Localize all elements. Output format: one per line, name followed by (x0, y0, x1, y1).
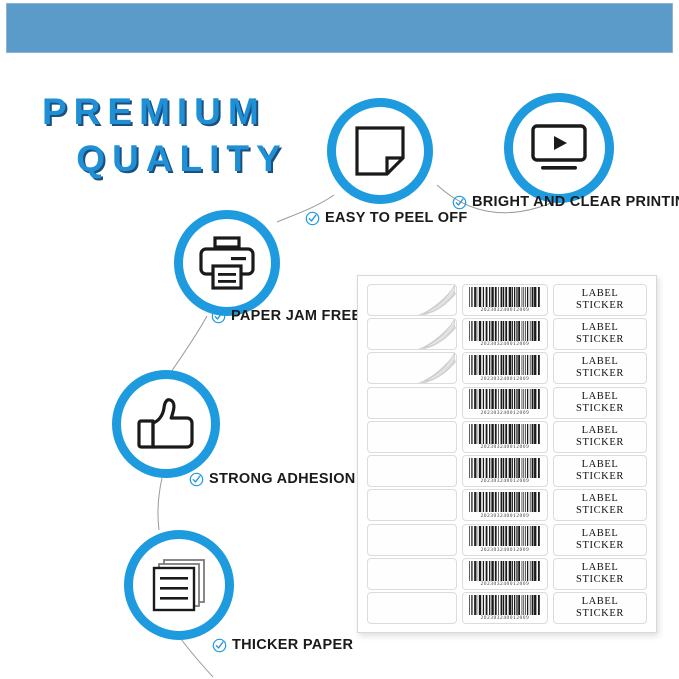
sticker-line-2: STICKER (576, 505, 624, 517)
blank-label-cell (367, 352, 457, 384)
feature-label-text: STRONG ADHESION (209, 471, 356, 487)
sticker-line-1: LABEL (582, 596, 619, 608)
check-circle-icon (189, 472, 204, 487)
blank-label-cell (367, 284, 457, 316)
feature-label-text: EASY TO PEEL OFF (325, 210, 468, 226)
thumbs-up-icon (137, 397, 195, 451)
barcode-label-cell: 202303240012009 (462, 352, 548, 384)
barcode-number: 202303240012009 (481, 581, 530, 587)
blank-label-cell (367, 558, 457, 590)
text-label-cell: LABELSTICKER (553, 387, 647, 419)
text-label-cell: LABELSTICKER (553, 592, 647, 624)
text-label-cell: LABELSTICKER (553, 421, 647, 453)
barcode-number: 202303240012009 (481, 513, 530, 519)
feature-icon-bright-and-clear-printing (504, 93, 614, 203)
check-circle-icon (211, 309, 226, 324)
barcode-number: 202303240012009 (481, 547, 530, 553)
premium-quality-infographic: PREMIUM QUALITY (0, 0, 679, 679)
barcode-label-cell: 202303240012009 (462, 592, 548, 624)
blank-label-cell (367, 524, 457, 556)
text-label-cell: LABELSTICKER (553, 489, 647, 521)
sheet-row: 202303240012009LABELSTICKER (367, 318, 647, 350)
feature-label-paper-jam-free: PAPER JAM FREE (211, 308, 361, 324)
peeling-corner (411, 284, 457, 316)
sheet-rows-container: 202303240012009LABELSTICKER2023032400120… (367, 284, 647, 624)
blank-label-cell (367, 455, 457, 487)
barcode-label-cell: 202303240012009 (462, 558, 548, 590)
label-sticker-sheet: 202303240012009LABELSTICKER2023032400120… (357, 275, 657, 633)
barcode-label-cell: 202303240012009 (462, 421, 548, 453)
monitor-play-icon (529, 123, 589, 173)
sticker-line-2: STICKER (576, 471, 624, 483)
blank-label-cell (367, 592, 457, 624)
sheet-row: 202303240012009LABELSTICKER (367, 284, 647, 316)
barcode-number: 202303240012009 (481, 615, 530, 621)
sheet-row: 202303240012009LABELSTICKER (367, 352, 647, 384)
sticker-line-2: STICKER (576, 334, 624, 346)
sheet-row: 202303240012009LABELSTICKER (367, 387, 647, 419)
sticker-line-1: LABEL (582, 391, 619, 403)
peeling-corner (411, 352, 457, 384)
text-label-cell: LABELSTICKER (553, 558, 647, 590)
check-circle-icon (212, 638, 227, 653)
sticker-line-1: LABEL (582, 493, 619, 505)
feature-label-thicker-paper: THICKER PAPER (212, 637, 353, 653)
top-banner (6, 3, 673, 53)
page-title-line-1: PREMIUM (42, 88, 332, 135)
barcode-number: 202303240012009 (481, 307, 530, 313)
blank-label-cell (367, 421, 457, 453)
text-label-cell: LABELSTICKER (553, 524, 647, 556)
sheet-row: 202303240012009LABELSTICKER (367, 558, 647, 590)
sticker-line-1: LABEL (582, 322, 619, 334)
sheet-row: 202303240012009LABELSTICKER (367, 421, 647, 453)
sticker-line-1: LABEL (582, 528, 619, 540)
sticker-line-2: STICKER (576, 608, 624, 620)
sticker-line-2: STICKER (576, 574, 624, 586)
barcode-number: 202303240012009 (481, 376, 530, 382)
text-label-cell: LABELSTICKER (553, 455, 647, 487)
barcode-label-cell: 202303240012009 (462, 489, 548, 521)
sticker-line-2: STICKER (576, 437, 624, 449)
barcode-number: 202303240012009 (481, 410, 530, 416)
feature-icon-thicker-paper (124, 530, 234, 640)
sticker-line-2: STICKER (576, 403, 624, 415)
barcode-number: 202303240012009 (481, 341, 530, 347)
barcode-label-cell: 202303240012009 (462, 455, 548, 487)
sticker-line-2: STICKER (576, 540, 624, 552)
sticker-line-1: LABEL (582, 288, 619, 300)
peeling-corner (411, 318, 457, 350)
check-circle-icon (305, 211, 320, 226)
feature-label-text: BRIGHT AND CLEAR PRINTING (472, 194, 679, 210)
feature-icon-strong-adhesion (112, 370, 220, 478)
blank-label-cell (367, 318, 457, 350)
check-circle-icon (452, 195, 467, 210)
feature-label-bright-and-clear-printing: BRIGHT AND CLEAR PRINTING (452, 194, 679, 210)
sticker-line-1: LABEL (582, 459, 619, 471)
sticker-line-1: LABEL (582, 562, 619, 574)
feature-label-strong-adhesion: STRONG ADHESION (189, 471, 356, 487)
sheet-row: 202303240012009LABELSTICKER (367, 455, 647, 487)
printer-icon (198, 236, 256, 290)
sticker-line-1: LABEL (582, 356, 619, 368)
barcode-label-cell: 202303240012009 (462, 387, 548, 419)
feature-label-text: PAPER JAM FREE (231, 308, 361, 324)
barcode-number: 202303240012009 (481, 478, 530, 484)
feature-icon-easy-to-peel-off (327, 98, 433, 204)
peeling-label-icon (353, 124, 407, 178)
barcode-label-cell: 202303240012009 (462, 524, 548, 556)
barcode-label-cell: 202303240012009 (462, 318, 548, 350)
barcode-number: 202303240012009 (481, 444, 530, 450)
sheet-row: 202303240012009LABELSTICKER (367, 592, 647, 624)
sheet-row: 202303240012009LABELSTICKER (367, 489, 647, 521)
barcode-label-cell: 202303240012009 (462, 284, 548, 316)
feature-icon-paper-jam-free (174, 210, 280, 316)
text-label-cell: LABELSTICKER (553, 284, 647, 316)
sticker-line-2: STICKER (576, 368, 624, 380)
sheet-row: 202303240012009LABELSTICKER (367, 524, 647, 556)
blank-label-cell (367, 489, 457, 521)
text-label-cell: LABELSTICKER (553, 318, 647, 350)
stacked-paper-icon (150, 557, 208, 613)
feature-label-text: THICKER PAPER (232, 637, 353, 653)
page-title: PREMIUM QUALITY (42, 88, 332, 182)
page-title-line-2: QUALITY (42, 135, 332, 182)
text-label-cell: LABELSTICKER (553, 352, 647, 384)
feature-label-easy-to-peel-off: EASY TO PEEL OFF (305, 210, 468, 226)
sticker-line-2: STICKER (576, 300, 624, 312)
sticker-line-1: LABEL (582, 425, 619, 437)
blank-label-cell (367, 387, 457, 419)
